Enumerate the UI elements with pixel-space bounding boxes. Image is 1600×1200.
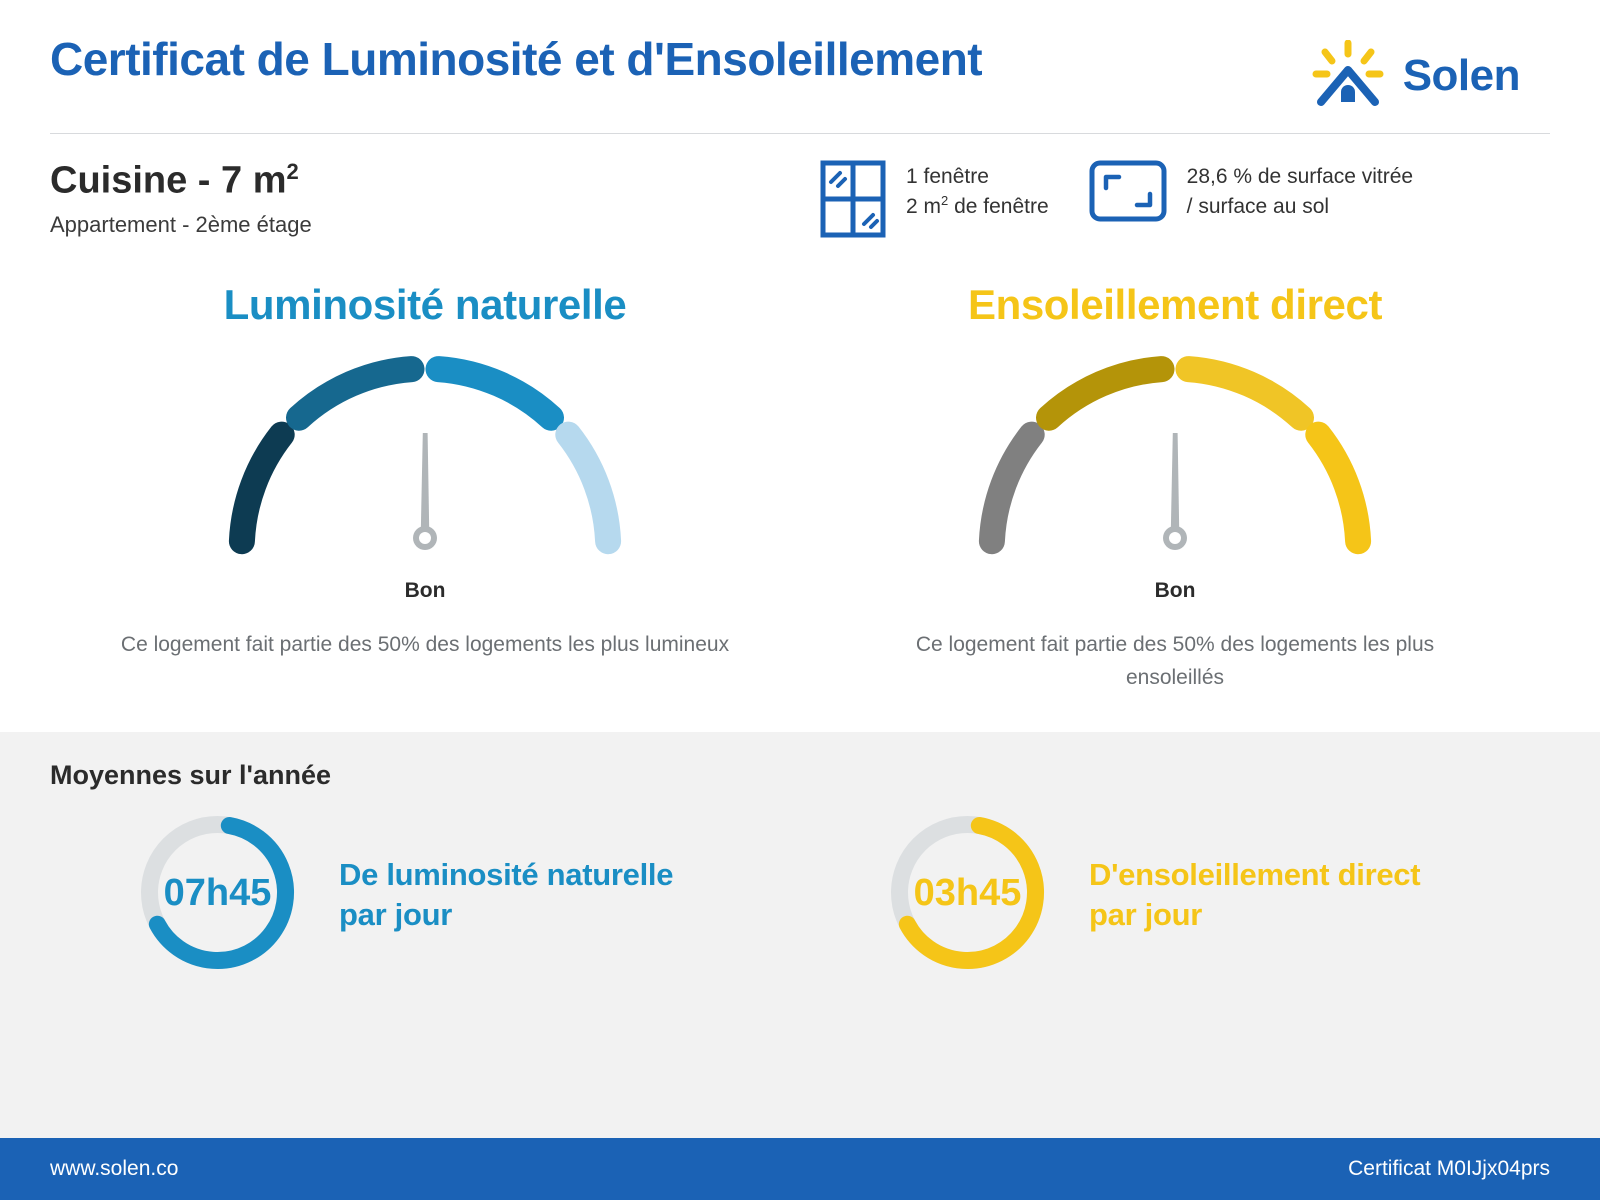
gauge-segment-2: [1049, 369, 1162, 418]
brand-logo: Solen: [1311, 40, 1520, 111]
page-header: Certificat de Luminosité et d'Ensoleille…: [0, 0, 1600, 111]
gauge-segment-1: [242, 435, 282, 542]
gauge-segment-4: [1318, 435, 1358, 542]
donut-ensoleillement-value: 03h45: [914, 872, 1022, 914]
average-luminosite-label-line1: De luminosité naturelle: [339, 855, 673, 895]
page-title: Certificat de Luminosité et d'Ensoleille…: [50, 34, 982, 85]
room-subtitle: Appartement - 2ème étage: [50, 212, 820, 238]
gauge-segment-3: [1189, 369, 1302, 418]
gauge-ensoleillement: Ensoleillement direct Bon: [800, 281, 1550, 694]
gauge-ensoleillement-description: Ce logement fait partie des 50% des loge…: [865, 629, 1485, 694]
donut-luminosite-value: 07h45: [164, 872, 272, 914]
room-unit-exponent: 2: [287, 159, 299, 184]
average-ensoleillement: 03h45 D'ensoleillement direct par jour: [800, 805, 1550, 985]
room-info: Cuisine - 7 m2 Appartement - 2ème étage: [50, 160, 820, 238]
floor-area-icon: [1089, 160, 1167, 227]
average-luminosite: 07h45 De luminosité naturelle par jour: [50, 805, 800, 985]
sun-house-logo-icon: [1311, 40, 1385, 111]
fact-glazed-ratio: 28,6 % de surface vitrée / surface au so…: [1089, 160, 1413, 227]
gauge-luminosite-rating: Bon: [50, 579, 800, 603]
brand-name: Solen: [1403, 51, 1520, 101]
gauge-ensoleillement-title: Ensoleillement direct: [800, 281, 1550, 329]
gauge-segment-4: [568, 435, 608, 542]
room-name: Cuisine - 7 m: [50, 160, 287, 202]
fact-glazed-line2: / surface au sol: [1187, 192, 1413, 222]
fact-windows-line2: 2 m2 de fenêtre: [906, 192, 1049, 222]
gauges-section: Luminosité naturelle Bon: [0, 243, 1600, 694]
average-ensoleillement-label-line1: D'ensoleillement direct: [1089, 855, 1420, 895]
footer-certificate-id: Certificat M0IJjx04prs: [1348, 1157, 1550, 1181]
gauge-needle: [1163, 433, 1187, 550]
average-luminosite-label: De luminosité naturelle par jour: [339, 855, 673, 936]
fact-windows-line1: 1 fenêtre: [906, 162, 1049, 192]
fact-window-area-suffix: de fenêtre: [948, 195, 1048, 218]
fact-glazed-ratio-text: 28,6 % de surface vitrée / surface au so…: [1187, 160, 1413, 223]
window-icon: [820, 160, 886, 243]
average-ensoleillement-label: D'ensoleillement direct par jour: [1089, 855, 1420, 936]
gauge-luminosite-title: Luminosité naturelle: [50, 281, 800, 329]
footer-website[interactable]: www.solen.co: [50, 1157, 178, 1181]
average-ensoleillement-label-line2: par jour: [1089, 895, 1420, 935]
room-title: Cuisine - 7 m2: [50, 160, 820, 202]
fact-glazed-line1: 28,6 % de surface vitrée: [1187, 162, 1413, 192]
averages-section: Moyennes sur l'année 07h45 De luminosité…: [0, 732, 1600, 1138]
gauge-segment-1: [992, 435, 1032, 542]
gauge-ensoleillement-dial: [800, 345, 1550, 565]
summary-row: Cuisine - 7 m2 Appartement - 2ème étage: [0, 134, 1600, 243]
average-luminosite-label-line2: par jour: [339, 895, 673, 935]
fact-windows: 1 fenêtre 2 m2 de fenêtre: [820, 160, 1049, 243]
gauge-segment-3: [439, 369, 552, 418]
donut-luminosite-chart: 07h45: [130, 805, 305, 985]
gauge-segment-2: [299, 369, 412, 418]
gauge-ensoleillement-rating: Bon: [800, 579, 1550, 603]
certificate-page: Certificat de Luminosité et d'Ensoleille…: [0, 0, 1600, 1200]
fact-window-area-prefix: 2 m: [906, 195, 941, 218]
gauge-luminosite: Luminosité naturelle Bon: [50, 281, 800, 694]
fact-windows-text: 1 fenêtre 2 m2 de fenêtre: [906, 160, 1049, 223]
donut-ensoleillement-chart: 03h45: [880, 805, 1055, 985]
page-footer: www.solen.co Certificat M0IJjx04prs: [0, 1138, 1600, 1200]
gauge-luminosite-dial: [50, 345, 800, 565]
averages-title: Moyennes sur l'année: [50, 760, 1550, 791]
averages-row: 07h45 De luminosité naturelle par jour 0…: [50, 805, 1550, 985]
gauge-needle: [413, 433, 437, 550]
gauge-luminosite-description: Ce logement fait partie des 50% des loge…: [115, 629, 735, 662]
